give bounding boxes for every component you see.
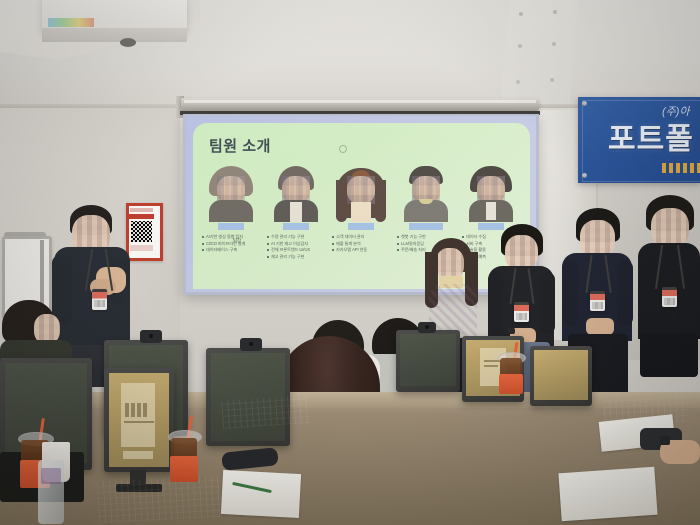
wristwatch-icon [660,436,670,445]
standing-person-4-lower [640,333,698,377]
classroom-presentation-photo: (주)아 포트폴 팀원 소개 AI기반 영상 질병 탐지 CI/CD 파이프라인… [0,0,700,525]
slide-portrait-2 [269,166,323,220]
name-redaction-4 [409,223,443,230]
banner-decor-stripe [662,163,700,173]
iced-coffee-3 [498,352,524,394]
slide-bullets-3: 고객 데이터 관리 매출 통계 분석 카카오맵 API 연동 [330,234,392,252]
paper-stack-2 [558,467,657,522]
monitor-3-screen [109,373,169,467]
name-redaction-3 [348,223,374,230]
standing-person-4 [638,195,700,375]
slide-decor-circle [339,145,347,153]
slide-portrait-1 [204,166,258,220]
slide-bullets-2: 수량 관리 기능 구현 AI 기반 재고 이상감지 전체 프론트엔드 UI/UX… [265,234,327,259]
name-redaction-2 [283,223,309,230]
webcam-5-icon [418,322,436,333]
banner-title: 포트폴 [608,120,700,160]
slide-role-1: 팀장 [233,238,241,244]
projector-lens-icon [120,38,136,47]
wristwatch-icon [508,328,515,334]
slide-portrait-4 [399,166,453,220]
screen-housing-highlight [184,100,536,103]
slide-portrait-3 [334,166,388,220]
slide-person-2: 수량 관리 기능 구현 AI 기반 재고 이상감지 전체 프론트엔드 UI/UX… [265,166,327,260]
projector-sticker [48,18,94,27]
iced-coffee-1 [168,430,200,482]
ceiling-vent-panel [500,0,579,108]
webcam-2-icon [240,338,262,351]
slide-title: 팀원 소개 [209,137,349,157]
projector-front [42,28,187,42]
name-redaction-1 [218,223,244,230]
monitor-5 [396,330,460,392]
monitor-3 [104,368,174,472]
slide-bullets-1: AI기반 영상 질병 탐지 CI/CD 파이프라인 설계 데이터베이스 구축 [200,234,262,252]
presenter-badge [92,289,107,310]
webcam-1-icon [140,330,162,343]
slide-person-3: 고객 데이터 관리 매출 통계 분석 카카오맵 API 연동 [330,166,392,254]
slide-person-1: AI기반 영상 질병 탐지 CI/CD 파이프라인 설계 데이터베이스 구축 [200,166,262,254]
keyboard-1[interactable] [97,475,221,523]
paper-stack-3 [221,470,301,518]
slide-portrait-5 [464,166,518,220]
banner-logo: (주)아 [662,103,700,119]
keyboard-2[interactable] [221,395,309,429]
clasped-hands [586,318,614,335]
pixelated-face-icon [651,208,689,248]
monitor-3b [530,346,592,406]
standing-person-4-badge [662,287,677,307]
water-bottle [38,460,64,524]
bottle-label [41,468,61,484]
standing-person-3-badge [590,291,605,311]
standing-person-2-badge [514,302,529,322]
